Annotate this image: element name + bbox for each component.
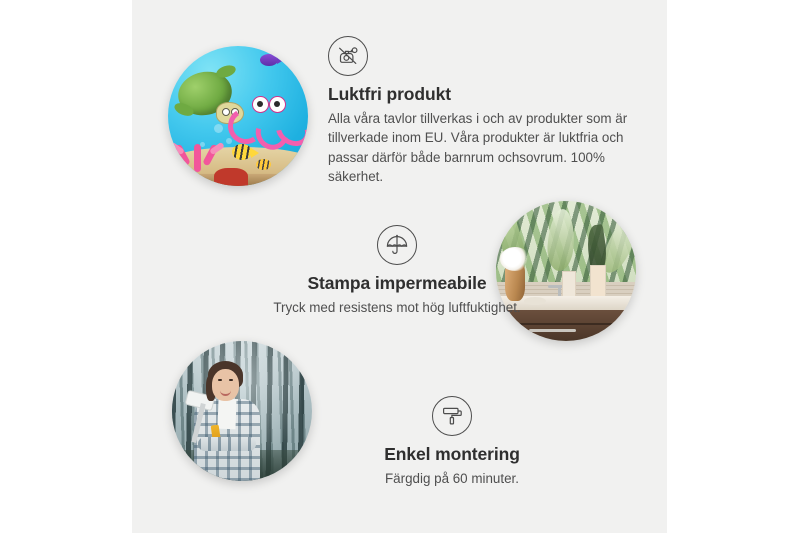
crab-icon bbox=[214, 168, 248, 186]
yellow-fish-icon bbox=[232, 144, 252, 160]
feature-easy-mounting: Enkel montering Färgdig på 60 minuter. bbox=[302, 396, 602, 488]
feature-title: Luktfri produkt bbox=[328, 84, 628, 105]
person-eye-left bbox=[218, 379, 222, 381]
person-eye-right bbox=[229, 379, 233, 381]
product-image-ocean-kids-mural[interactable] bbox=[168, 46, 308, 186]
screenshot-canvas: Luktfri produkt Alla våra tavlor tillver… bbox=[0, 0, 800, 533]
no-fragrance-icon bbox=[328, 36, 368, 76]
octopus-eye-right bbox=[269, 96, 286, 113]
umbrella-icon bbox=[377, 225, 417, 265]
bubble-1 bbox=[214, 124, 223, 133]
purple-fish-icon bbox=[260, 54, 278, 66]
feature-odour-free: Luktfri produkt Alla våra tavlor tillver… bbox=[328, 36, 628, 187]
feature-title: Stampa impermeabile bbox=[222, 273, 572, 294]
feature-description: Färgdig på 60 minuter. bbox=[302, 469, 602, 488]
feature-description: Alla våra tavlor tillverkas i och av pro… bbox=[328, 109, 628, 187]
coral-icon bbox=[174, 132, 222, 172]
feature-description: Tryck med resistens mot hög luftfuktighe… bbox=[222, 298, 572, 317]
door-handle bbox=[619, 326, 622, 336]
person-head bbox=[212, 369, 239, 401]
feature-title: Enkel montering bbox=[302, 444, 602, 465]
yellow-fish-small-icon bbox=[256, 159, 271, 170]
content-panel: Luktfri produkt Alla våra tavlor tillver… bbox=[132, 0, 667, 533]
drawer-handle bbox=[529, 329, 576, 332]
paint-roller-icon bbox=[432, 396, 472, 436]
bubble-2 bbox=[226, 138, 232, 144]
person-arms bbox=[198, 437, 256, 451]
feature-waterproof: Stampa impermeabile Tryck med resistens … bbox=[222, 225, 572, 317]
person-shirt bbox=[217, 399, 236, 430]
product-image-woman-with-paint-roller-forest[interactable] bbox=[172, 341, 312, 481]
bubble-3 bbox=[200, 142, 205, 147]
